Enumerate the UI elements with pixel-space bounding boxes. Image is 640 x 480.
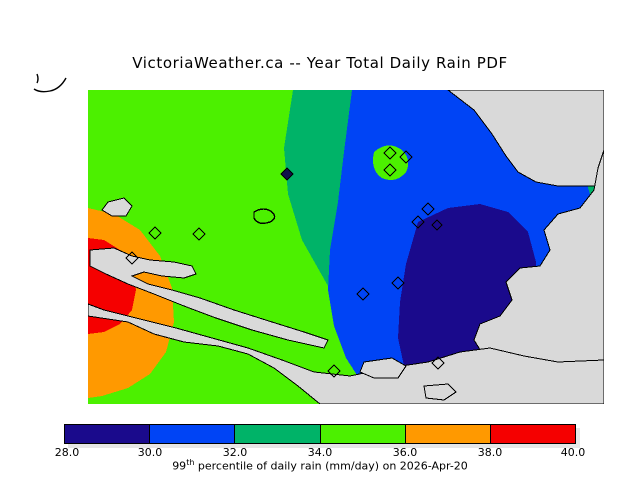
caption-prefix: 99 — [172, 460, 186, 473]
colorbar-caption: 99th percentile of daily rain (mm/day) o… — [0, 458, 640, 473]
colorbar-band-blue — [150, 425, 235, 443]
caption-text: percentile of daily rain (mm/day) on 202… — [194, 460, 467, 473]
colorbar-band-red — [491, 425, 575, 443]
weather-map-page: VictoriaWeather.ca -- Year Total Daily R… — [0, 0, 640, 480]
colorbar[interactable] — [64, 424, 576, 444]
colorbar-band-navy — [65, 425, 150, 443]
colorbar-band-bright-green — [321, 425, 406, 443]
colorbar-band-sea-green — [235, 425, 320, 443]
contour-map[interactable] — [88, 90, 604, 404]
colorbar-band-orange — [406, 425, 491, 443]
